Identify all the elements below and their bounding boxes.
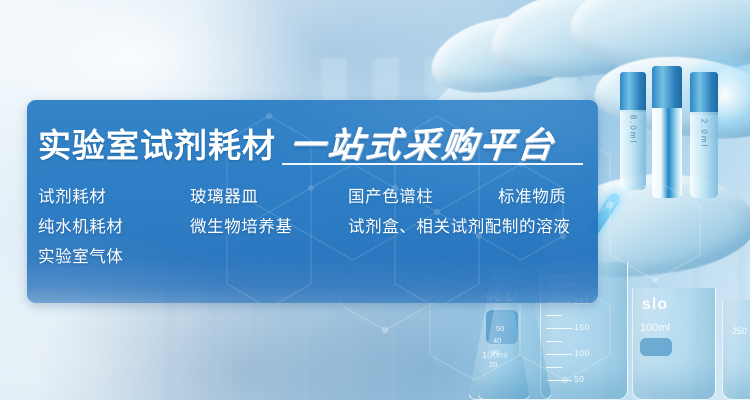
category-item[interactable]: 微生物培养基 <box>190 213 293 237</box>
headline-main-text: 实验室试剂耗材 <box>38 119 276 167</box>
category-row: 实验室气体 <box>38 240 583 270</box>
category-item[interactable]: 玻璃器皿 <box>190 183 258 207</box>
category-item[interactable]: 实验室气体 <box>38 243 124 267</box>
headline-brush-text: 一站式采购平台 <box>287 117 558 168</box>
category-row: 纯水机耗材 微生物培养基 试剂盒、相关试剂配制的溶液 <box>38 210 583 240</box>
category-grid: 试剂耗材 玻璃器皿 国产色谱柱 标准物质 纯水机耗材 微生物培养基 试剂盒、相关… <box>38 180 583 270</box>
category-item[interactable]: 国产色谱柱 <box>348 183 434 207</box>
banner-headline: 实验室试剂耗材 一站式采购平台 <box>38 117 556 168</box>
headline-underline <box>282 163 583 165</box>
banner-screenshot: 8.0ml 2.0ml 250 APPROX 200 150 100 50 GG… <box>0 0 750 400</box>
category-item[interactable]: 纯水机耗材 <box>38 213 124 237</box>
category-row: 试剂耗材 玻璃器皿 国产色谱柱 标准物质 <box>38 180 583 210</box>
category-item[interactable]: 试剂耗材 <box>38 183 106 207</box>
category-item[interactable]: 标准物质 <box>498 183 566 207</box>
category-item[interactable]: 试剂盒、相关试剂配制的溶液 <box>348 213 570 237</box>
